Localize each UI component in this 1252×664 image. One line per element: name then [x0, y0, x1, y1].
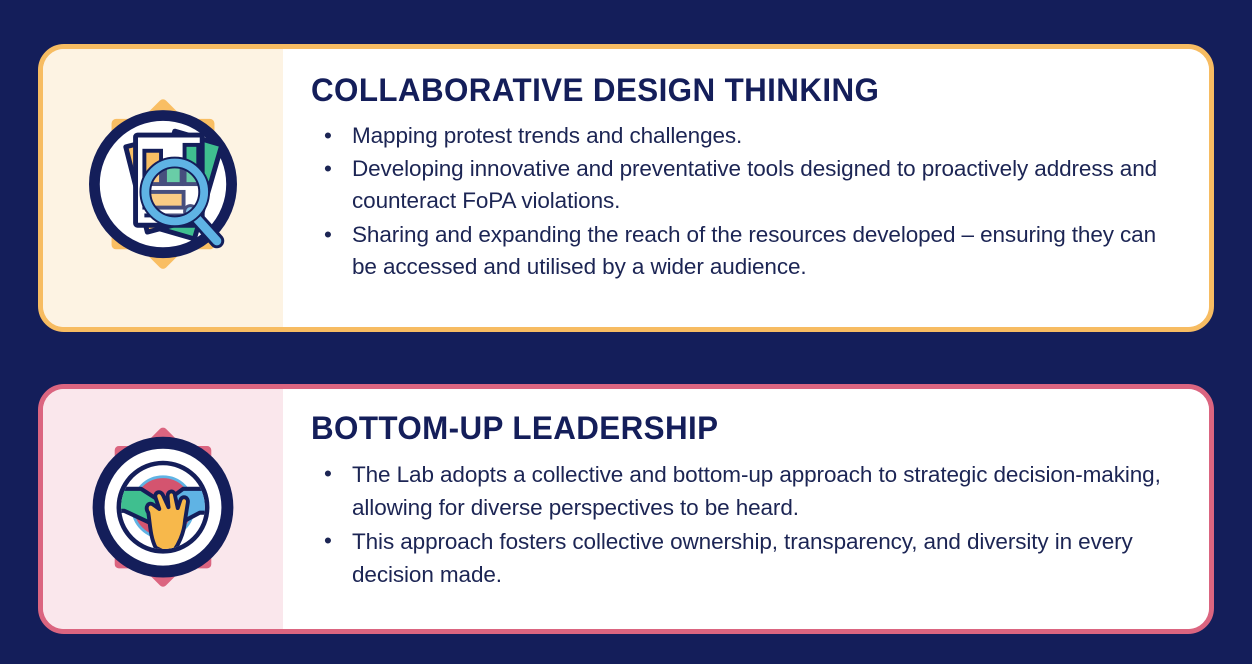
- body-panel-card-2: BOTTOM-UP LEADERSHIP • The Lab adopts a …: [283, 389, 1209, 629]
- card-2-title: BOTTOM-UP LEADERSHIP: [311, 411, 1164, 446]
- bullet-dot-icon: •: [324, 120, 332, 152]
- bullet-dot-icon: •: [324, 219, 332, 251]
- list-item: • This approach fosters collective owner…: [311, 525, 1181, 592]
- card-2-bullet-list: • The Lab adopts a collective and bottom…: [311, 458, 1181, 593]
- list-item: • The Lab adopts a collective and bottom…: [311, 458, 1181, 525]
- list-item-text: Mapping protest trends and challenges.: [352, 123, 742, 148]
- bullet-dot-icon: •: [324, 525, 332, 557]
- list-item-text: This approach fosters collective ownersh…: [352, 529, 1133, 587]
- list-item: • Sharing and expanding the reach of the…: [311, 219, 1181, 284]
- list-item: • Developing innovative and preventative…: [311, 153, 1181, 218]
- list-item-text: The Lab adopts a collective and bottom-u…: [352, 462, 1161, 520]
- icon-panel-card-1: [43, 49, 283, 327]
- card-1-title: COLLABORATIVE DESIGN THINKING: [311, 73, 1164, 108]
- icon-panel-card-2: [43, 389, 283, 629]
- bullet-dot-icon: •: [324, 458, 332, 490]
- list-item-text: Sharing and expanding the reach of the r…: [352, 222, 1156, 279]
- list-item-text: Developing innovative and preventative t…: [352, 156, 1157, 213]
- card-collaborative-design-thinking: COLLABORATIVE DESIGN THINKING • Mapping …: [38, 44, 1214, 332]
- list-item: • Mapping protest trends and challenges.: [311, 120, 1181, 152]
- infographic-page: COLLABORATIVE DESIGN THINKING • Mapping …: [0, 0, 1252, 664]
- body-panel-card-1: COLLABORATIVE DESIGN THINKING • Mapping …: [283, 49, 1209, 327]
- card-1-bullet-list: • Mapping protest trends and challenges.…: [311, 120, 1181, 285]
- document-chart-magnifier-icon: [65, 90, 261, 286]
- bullet-dot-icon: •: [324, 153, 332, 185]
- card-bottom-up-leadership: BOTTOM-UP LEADERSHIP • The Lab adopts a …: [38, 384, 1214, 634]
- stacked-hands-circle-icon: [71, 417, 255, 601]
